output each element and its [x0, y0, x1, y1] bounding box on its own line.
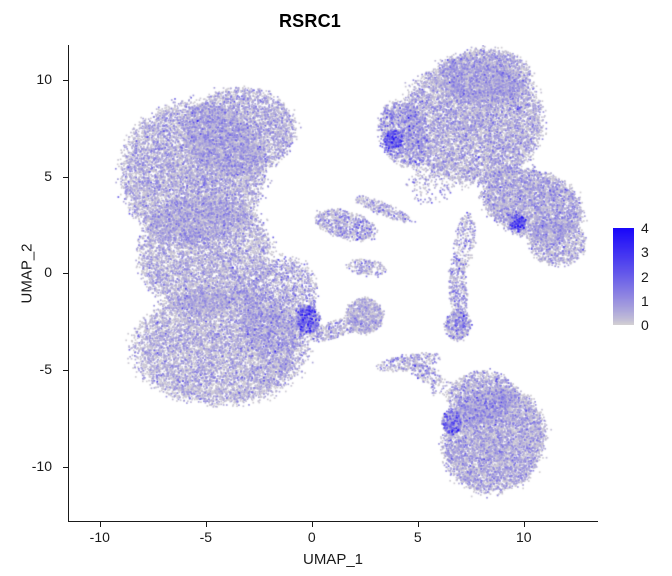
x-tick-label: 5 — [414, 529, 422, 545]
colorbar-tick-mark — [634, 252, 638, 253]
umap-feature-plot: RSRC1 1050-5-10 -10-50510 UMAP_1 UMAP_2 … — [0, 0, 672, 576]
y-tick-label: -10 — [0, 458, 60, 474]
colorbar-legend: 43210 — [610, 222, 672, 337]
colorbar-tick-label: 1 — [641, 293, 649, 309]
colorbar-tick-label: 0 — [641, 317, 649, 333]
x-tick-mark — [206, 522, 207, 527]
colorbar-tick-mark — [634, 228, 638, 229]
y-axis-title: UMAP_2 — [19, 164, 36, 384]
x-axis-line — [68, 521, 598, 522]
y-tick-mark — [63, 80, 68, 81]
y-tick-mark — [63, 467, 68, 468]
y-tick-mark — [63, 273, 68, 274]
y-axis-line — [68, 45, 69, 521]
y-tick-mark — [63, 177, 68, 178]
x-tick-label: 0 — [308, 529, 316, 545]
colorbar-tick-mark — [634, 301, 638, 302]
x-tick-label: -10 — [90, 529, 110, 545]
colorbar-tick-label: 2 — [641, 269, 649, 285]
x-tick-mark — [312, 522, 313, 527]
x-tick-mark — [524, 522, 525, 527]
x-tick-label: 10 — [516, 529, 532, 545]
scatter-points-canvas — [68, 45, 598, 521]
y-tick-label: 10 — [0, 71, 60, 87]
x-tick-label: -5 — [200, 529, 212, 545]
page-title: RSRC1 — [0, 11, 620, 32]
colorbar-tick-mark — [634, 325, 638, 326]
x-tick-mark — [100, 522, 101, 527]
x-tick-mark — [418, 522, 419, 527]
colorbar-gradient — [613, 228, 634, 325]
colorbar-tick-label: 4 — [641, 220, 649, 236]
plot-panel — [68, 45, 598, 521]
x-axis-title: UMAP_1 — [68, 551, 598, 568]
y-tick-mark — [63, 370, 68, 371]
colorbar-tick-mark — [634, 277, 638, 278]
colorbar-tick-label: 3 — [641, 244, 649, 260]
